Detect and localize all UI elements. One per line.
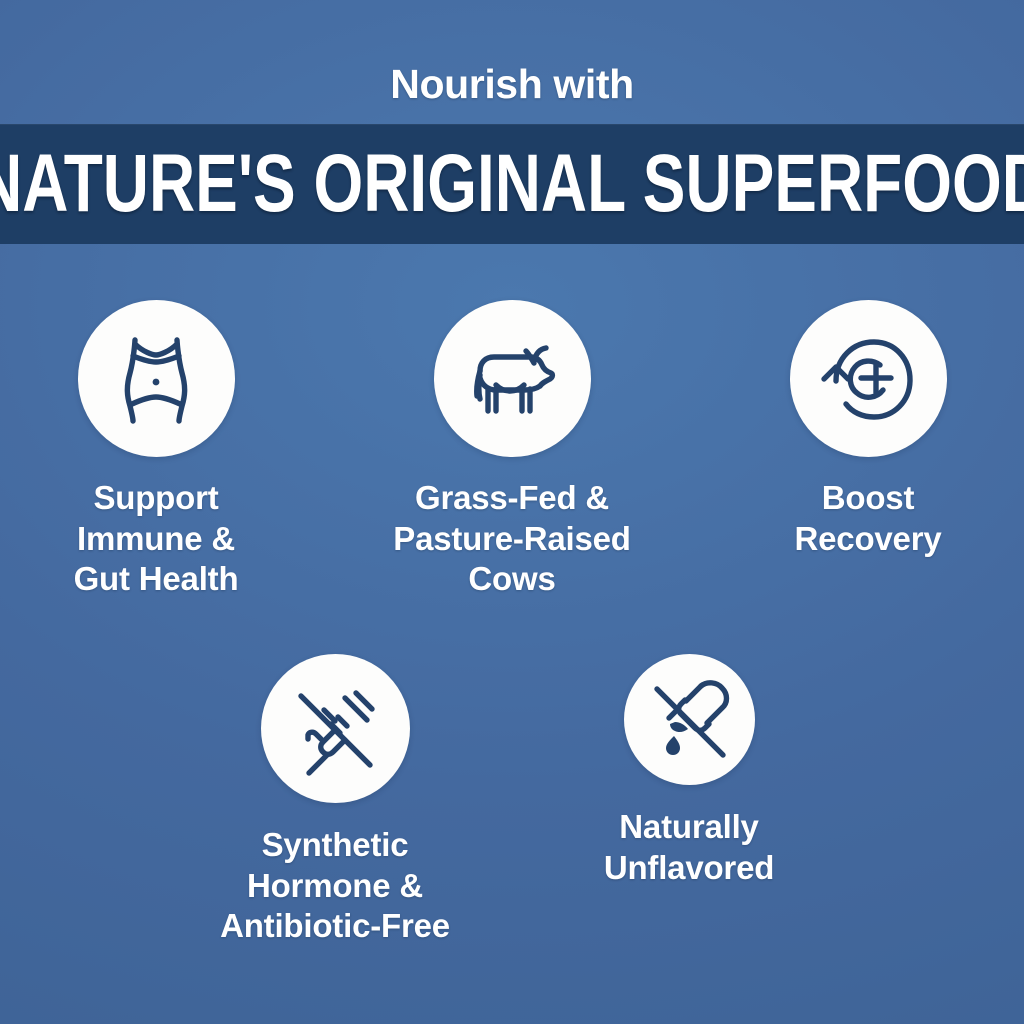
icon-badge bbox=[78, 300, 235, 457]
icon-badge bbox=[434, 300, 591, 457]
cow-icon bbox=[456, 323, 568, 435]
feature-item: Synthetic Hormone & Antibiotic-Free bbox=[200, 654, 470, 947]
icon-badge bbox=[624, 654, 755, 785]
torso-waist-icon bbox=[101, 324, 211, 434]
recovery-refresh-plus-icon bbox=[814, 325, 922, 433]
feature-row-bottom: Synthetic Hormone & Antibiotic-Free bbox=[0, 654, 1024, 947]
feature-caption: Naturally Unflavored bbox=[604, 807, 774, 888]
icon-badge bbox=[261, 654, 410, 803]
no-dropper-icon bbox=[641, 672, 737, 768]
feature-caption: Grass-Fed & Pasture-Raised Cows bbox=[393, 478, 630, 600]
feature-item: Grass-Fed & Pasture-Raised Cows bbox=[377, 300, 647, 600]
feature-caption: Boost Recovery bbox=[795, 478, 942, 559]
eyebrow-text: Nourish with bbox=[0, 64, 1024, 105]
no-syringe-icon bbox=[283, 677, 387, 781]
title-band: NATURE'S ORIGINAL SUPERFOOD bbox=[0, 124, 1024, 244]
feature-item: Support Immune & Gut Health bbox=[21, 300, 291, 600]
feature-caption: Support Immune & Gut Health bbox=[74, 478, 239, 600]
feature-caption: Synthetic Hormone & Antibiotic-Free bbox=[220, 825, 450, 947]
feature-item: Naturally Unflavored bbox=[554, 654, 824, 947]
infographic-panel: Nourish with NATURE'S ORIGINAL SUPERFOOD bbox=[0, 0, 1024, 1024]
page-title: NATURE'S ORIGINAL SUPERFOOD bbox=[113, 124, 912, 244]
icon-badge bbox=[790, 300, 947, 457]
feature-item: Boost Recovery bbox=[733, 300, 1003, 600]
feature-row-top: Support Immune & Gut Health bbox=[0, 300, 1024, 600]
